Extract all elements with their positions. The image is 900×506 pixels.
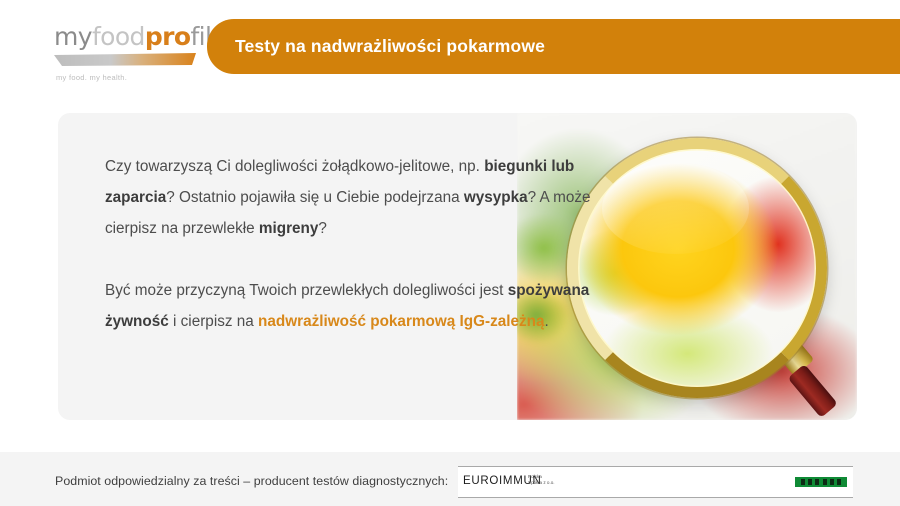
partner-mark-icon	[795, 477, 847, 487]
partner-rule-bottom	[458, 497, 853, 498]
brand-tagline: my food. my health.	[56, 73, 127, 82]
partner-subtitle-line2: Spółka z o.o.	[528, 480, 555, 486]
p1-part4: ?	[318, 220, 327, 237]
title-banner: Testy na nadwrażliwości pokarmowe	[207, 19, 900, 74]
p1-part1: Czy towarzyszą Ci dolegliwości żołądkowo…	[105, 158, 484, 175]
partner-rule-top	[458, 466, 853, 467]
p1-bold2: wysypka	[464, 189, 528, 206]
content-card: Czy towarzyszą Ci dolegliwości żołądkowo…	[58, 113, 857, 420]
p1-part2: ? Ostatnio pojawiła się u Ciebie podejrz…	[166, 189, 464, 206]
p2-part2: i cierpisz na	[169, 313, 258, 330]
p2-part1: Być może przyczyną Twoich przewlekłych d…	[105, 282, 508, 299]
partner-subtitle: Polska Spółka z o.o.	[528, 474, 555, 486]
brand-wordmark: myfoodprofile	[54, 24, 204, 49]
paragraph-symptoms: Czy towarzyszą Ci dolegliwości żołądkowo…	[105, 151, 635, 244]
footer-disclaimer: Podmiot odpowiedzialny za treści – produ…	[55, 474, 448, 488]
page-title: Testy na nadwrażliwości pokarmowe	[235, 36, 545, 57]
page-header: myfoodprofile my food. my health. Testy …	[0, 0, 900, 100]
paragraph-cause: Być może przyczyną Twoich przewlekłych d…	[105, 275, 635, 337]
p1-bold3: migreny	[259, 220, 319, 237]
p2-highlight: nadwrażliwość pokarmową IgG-zależną	[258, 313, 544, 330]
brand-swoosh-icon	[54, 53, 196, 71]
brand-wordmark-my: my	[54, 22, 92, 51]
p2-part3: .	[545, 313, 549, 330]
brand-wordmark-food: food	[92, 22, 145, 51]
card-copy: Czy towarzyszą Ci dolegliwości żołądkowo…	[105, 151, 635, 337]
partner-logo-euroimmun[interactable]: EUROIMMUN Polska Spółka z o.o.	[458, 466, 853, 498]
brand-logo[interactable]: myfoodprofile my food. my health.	[54, 24, 204, 86]
brand-wordmark-pro: pro	[145, 22, 191, 51]
